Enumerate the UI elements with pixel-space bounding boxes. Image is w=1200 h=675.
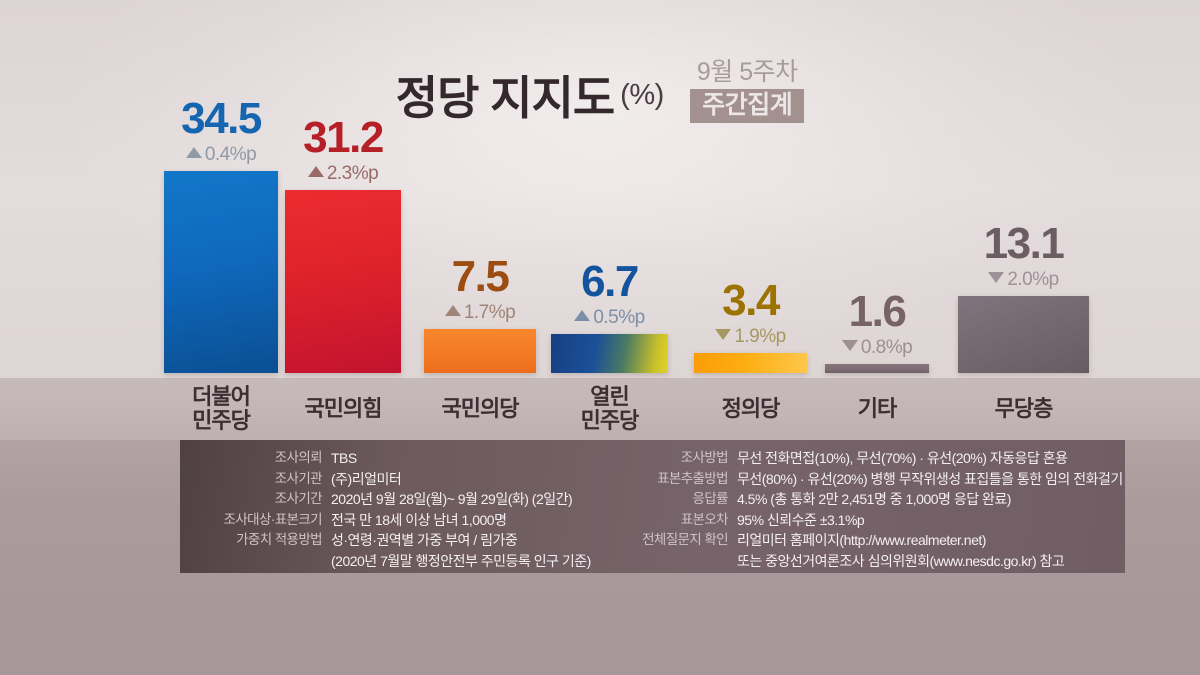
methodology-key: 조사대상·표본크기 — [180, 510, 322, 531]
methodology-value: 2020년 9월 28일(월)~ 9월 29일(화) (2일간) — [331, 489, 591, 510]
triangle-down-icon — [715, 329, 731, 340]
bar-column: 1.60.8%p — [825, 291, 929, 378]
methodology-right-column: 조사방법표본추출방법응답률표본오차전체질문지 확인 무선 전화면접(10%), … — [610, 440, 1125, 573]
triangle-up-icon — [445, 305, 461, 316]
bar-rect — [551, 334, 668, 373]
methodology-value: 전국 만 18세 이상 남녀 1,000명 — [331, 510, 591, 531]
poll-graphic: 정당 지지도(%) 9월 5주차 주간집계 34.50.4%p31.22.3%p… — [0, 0, 1200, 675]
methodology-value: 또는 중앙선거여론조사 심의위원회(www.nesdc.go.kr) 참고 — [737, 551, 1123, 572]
bar-column: 13.12.0%p — [958, 223, 1089, 378]
bar-delta-label: 1.7%p — [424, 300, 536, 326]
methodology-key — [610, 551, 728, 572]
bar-value-label: 31.2 — [285, 117, 401, 159]
triangle-down-icon — [988, 272, 1004, 283]
category-label: 정의당 — [686, 378, 815, 440]
methodology-right-keys: 조사방법표본추출방법응답률표본오차전체질문지 확인 — [610, 448, 737, 573]
methodology-key — [180, 551, 322, 572]
methodology-value: (주)리얼미터 — [331, 469, 591, 490]
category-labels: 더불어민주당국민의힘국민의당열린민주당정의당기타무당층 — [0, 378, 1200, 440]
methodology-value: (2020년 7월말 행정안전부 주민등록 인구 기준) — [331, 551, 591, 572]
bar-value-label: 13.1 — [958, 223, 1089, 265]
methodology-key: 조사기관 — [180, 469, 322, 490]
bar-rect — [694, 353, 807, 373]
methodology-key: 조사기간 — [180, 489, 322, 510]
category-label: 열린민주당 — [543, 378, 676, 440]
bar-rect — [424, 329, 536, 373]
bar-delta-label: 1.9%p — [694, 324, 807, 350]
methodology-value: 무선(80%) · 유선(20%) 병행 무작위생성 표집틀을 통한 임의 전화… — [737, 469, 1123, 490]
methodology-key: 표본추출방법 — [610, 469, 728, 490]
methodology-value: 리얼미터 홈페이지(http://www.realmeter.net) — [737, 530, 1123, 551]
methodology-value: 성·연령·권역별 가중 부여 / 림가중 — [331, 530, 591, 551]
category-label: 국민의당 — [416, 378, 544, 440]
triangle-up-icon — [186, 147, 202, 158]
category-label: 기타 — [817, 378, 937, 440]
methodology-value: TBS — [331, 448, 591, 469]
methodology-left-column: 조사의뢰조사기관조사기간조사대상·표본크기가중치 적용방법 TBS(주)리얼미터… — [180, 440, 610, 573]
category-label: 무당층 — [950, 378, 1097, 440]
bar-delta-label: 0.5%p — [551, 305, 668, 331]
methodology-key: 가중치 적용방법 — [180, 530, 322, 551]
bar-column: 6.70.5%p — [551, 261, 668, 378]
bar-chart: 34.50.4%p31.22.3%p7.51.7%p6.70.5%p3.41.9… — [0, 0, 1200, 378]
bar-rect — [958, 296, 1089, 373]
bar-column: 31.22.3%p — [285, 117, 401, 378]
methodology-key: 조사방법 — [610, 448, 728, 469]
bar-value-label: 7.5 — [424, 256, 536, 298]
bar-delta-label: 0.8%p — [825, 335, 929, 361]
bar-delta-label: 0.4%p — [164, 142, 278, 168]
triangle-up-icon — [574, 310, 590, 321]
bar-value-label: 34.5 — [164, 98, 278, 140]
methodology-left-keys: 조사의뢰조사기관조사기간조사대상·표본크기가중치 적용방법 — [180, 448, 331, 573]
methodology-right-values: 무선 전화면접(10%), 무선(70%) · 유선(20%) 자동응답 혼용무… — [737, 448, 1123, 573]
bar-column: 34.50.4%p — [164, 98, 278, 378]
methodology-key: 조사의뢰 — [180, 448, 322, 469]
bar-value-label: 3.4 — [694, 280, 807, 322]
category-label: 더불어민주당 — [156, 378, 286, 440]
methodology-key: 표본오차 — [610, 510, 728, 531]
triangle-down-icon — [842, 340, 858, 351]
methodology-left-values: TBS(주)리얼미터2020년 9월 28일(월)~ 9월 29일(화) (2일… — [331, 448, 591, 573]
category-label: 국민의힘 — [277, 378, 409, 440]
triangle-up-icon — [308, 166, 324, 177]
bar-rect — [285, 190, 401, 373]
methodology-value: 95% 신뢰수준 ±3.1%p — [737, 510, 1123, 531]
methodology-key: 전체질문지 확인 — [610, 530, 728, 551]
bar-delta-label: 2.3%p — [285, 161, 401, 187]
bar-value-label: 6.7 — [551, 261, 668, 303]
bar-column: 7.51.7%p — [424, 256, 536, 378]
bar-delta-label: 2.0%p — [958, 267, 1089, 293]
bar-rect — [164, 171, 278, 373]
methodology-value: 4.5% (총 통화 2만 2,451명 중 1,000명 응답 완료) — [737, 489, 1123, 510]
bar-column: 3.41.9%p — [694, 280, 807, 378]
bar-value-label: 1.6 — [825, 291, 929, 333]
bar-rect — [825, 364, 929, 373]
methodology-value: 무선 전화면접(10%), 무선(70%) · 유선(20%) 자동응답 혼용 — [737, 448, 1123, 469]
methodology-panel: 조사의뢰조사기관조사기간조사대상·표본크기가중치 적용방법 TBS(주)리얼미터… — [180, 440, 1125, 573]
methodology-key: 응답률 — [610, 489, 728, 510]
